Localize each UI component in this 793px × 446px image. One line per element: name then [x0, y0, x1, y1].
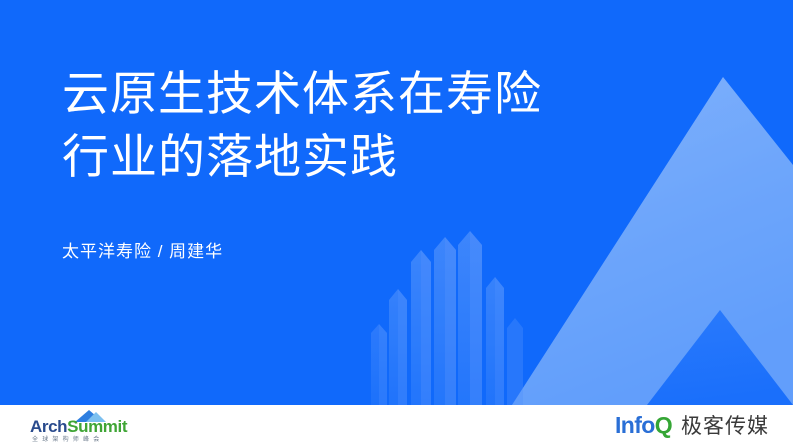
slide-title: 云原生技术体系在寿险 行业的落地实践: [62, 62, 682, 188]
title-line-1: 云原生技术体系在寿险: [62, 62, 682, 125]
background-artwork: [0, 0, 793, 405]
infoq-wordmark: InfoQ: [615, 412, 672, 439]
title-line-2: 行业的落地实践: [62, 125, 682, 188]
infoq-chinese-label: 极客传媒: [681, 410, 769, 440]
infoq-word-info: Info: [615, 412, 655, 438]
slide-subtitle: 太平洋寿险 / 周建华: [62, 240, 223, 264]
archsummit-logo: ArchSummit 全球架构师峰会: [30, 409, 150, 443]
infoq-word-q: Q: [655, 412, 672, 438]
archsummit-tagline: 全球架构师峰会: [32, 434, 103, 443]
slide-footer: ArchSummit 全球架构师峰会 InfoQ 极客传媒: [0, 405, 793, 446]
slide-stage: 云原生技术体系在寿险 行业的落地实践 太平洋寿险 / 周建华: [0, 0, 793, 405]
infoq-logo: InfoQ 极客传媒: [615, 411, 769, 439]
presentation-slide: 云原生技术体系在寿险 行业的落地实践 太平洋寿险 / 周建华 ArchSummi…: [0, 0, 793, 446]
